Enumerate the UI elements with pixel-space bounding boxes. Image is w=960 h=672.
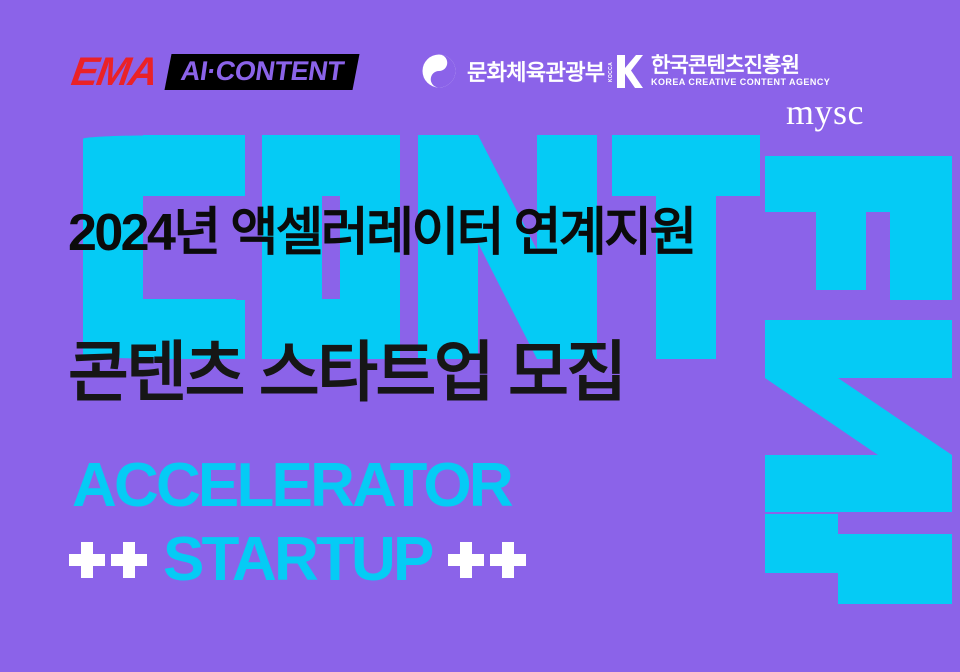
logo-mysc: mysc: [786, 94, 864, 130]
wordmark-letter-n-rotated: [765, 320, 952, 512]
headline-english-2: STARTUP: [163, 529, 432, 591]
plus-icon: [69, 542, 105, 578]
logo-ema: EMA AI·CONTENT: [72, 50, 357, 94]
taegeuk-emblem-icon: [422, 54, 456, 88]
plus-group-right: [445, 542, 529, 578]
plus-icon: [490, 542, 526, 578]
wordmark-letter-e-rotated: [765, 156, 952, 300]
logo-mcst: 문화체육관광부: [422, 54, 604, 88]
wordmark-letter-t-rotated: [765, 514, 952, 604]
poster-canvas: EMA AI·CONTENT 문화체육관광부 KOCCA: [0, 0, 960, 672]
headline-korean-2: 콘텐츠 스타트업 모집: [68, 339, 625, 405]
headline-english-2-row: STARTUP: [66, 529, 529, 591]
ema-wordmark: EMA: [69, 52, 160, 92]
plus-group-left: [66, 542, 150, 578]
mcst-label: 문화체육관광부: [467, 55, 604, 87]
plus-icon: [448, 542, 484, 578]
headline-english-1: ACCELERATOR: [72, 455, 511, 517]
headline-korean-1: 2024년 액셀러레이터 연계지원: [68, 207, 695, 259]
ai-content-badge: AI·CONTENT: [165, 54, 360, 90]
kocca-name-ko: 한국콘텐츠진흥원: [651, 55, 830, 77]
kocca-wordmark: 한국콘텐츠진흥원 KOREA CREATIVE CONTENT AGENCY: [651, 55, 830, 88]
kocca-k-mark-icon: [617, 55, 643, 88]
ai-content-badge-label: AI·CONTENT: [180, 58, 346, 85]
kocca-vertical-mark: KOCCA: [607, 55, 616, 88]
logo-kocca: KOCCA 한국콘텐츠진흥원 KOREA CREATIVE CONTENT AG…: [607, 55, 830, 88]
plus-icon: [111, 542, 147, 578]
logo-bar: EMA AI·CONTENT 문화체육관광부 KOCCA: [0, 46, 960, 108]
kocca-vertical-label: KOCCA: [609, 61, 615, 81]
kocca-name-en: KOREA CREATIVE CONTENT AGENCY: [651, 78, 830, 88]
